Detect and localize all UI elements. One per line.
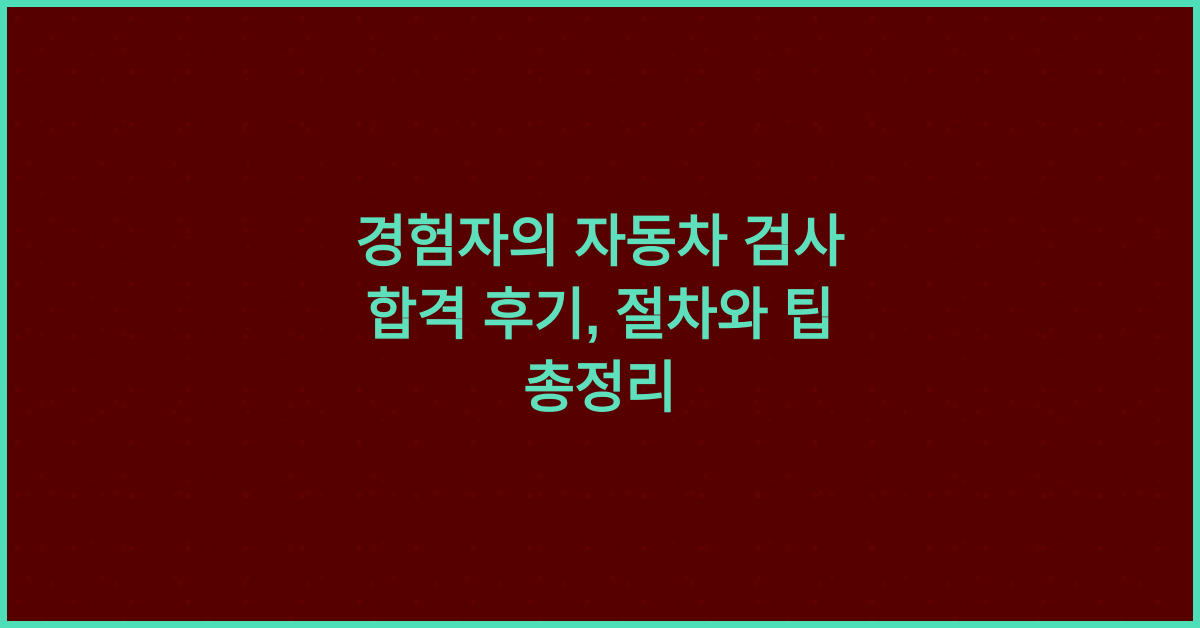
page-title: 경험자의 자동차 검사 합격 후기, 절차와 팁 총정리 xyxy=(47,205,1153,424)
thumbnail-card: 경험자의 자동차 검사 합격 후기, 절차와 팁 총정리 xyxy=(0,0,1200,628)
title-block: 경험자의 자동차 검사 합격 후기, 절차와 팁 총정리 xyxy=(7,205,1193,424)
